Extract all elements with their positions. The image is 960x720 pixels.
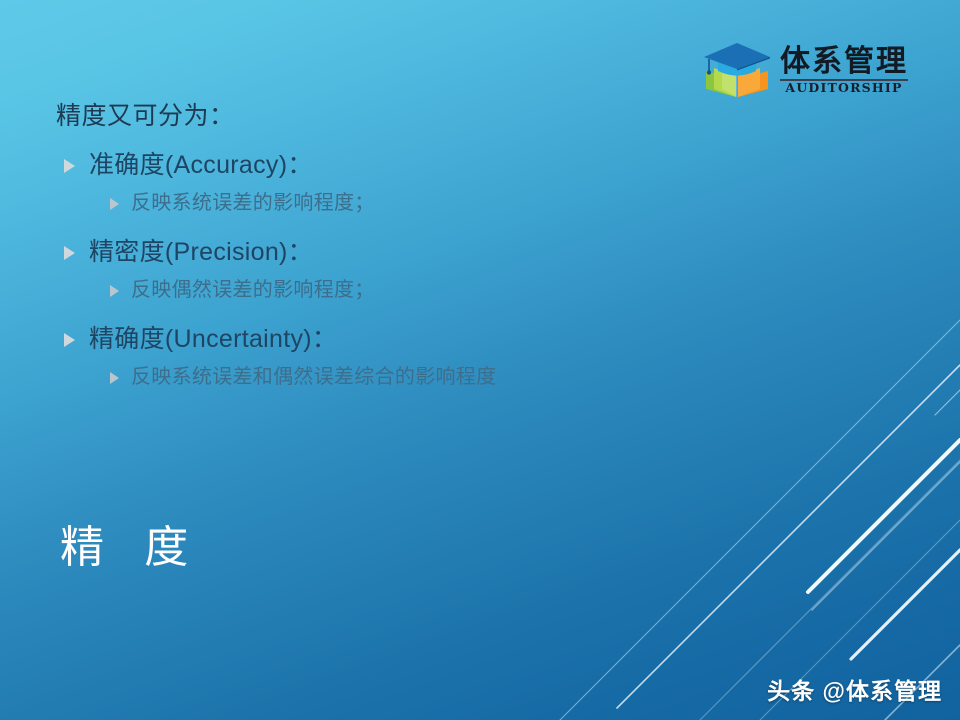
lead-statement: 精度又可分为： (56, 100, 876, 134)
watermark: 头条 @体系管理 (767, 672, 942, 706)
bullet-level2-label: 反映偶然误差的影响程度； (131, 276, 375, 304)
triangle-bullet-icon (64, 159, 75, 173)
triangle-bullet-icon (64, 246, 75, 260)
bullet-level1-label: 精确度(Uncertainty)： (89, 322, 337, 357)
triangle-bullet-icon (110, 198, 119, 210)
triangle-bullet-icon (110, 372, 119, 384)
slide-canvas: 体系管理 AUDITORSHIP 精度又可分为： 准确度(Accuracy)： … (0, 0, 960, 720)
bullet-level2-label: 反映系统误差和偶然误差综合的影响程度 (131, 363, 496, 391)
graduation-cap-book-icon (700, 37, 774, 101)
bullet-level1-label: 精密度(Precision)： (89, 235, 313, 270)
bullet-level1-accuracy: 准确度(Accuracy)： (56, 148, 876, 183)
bullet-level2-precision-detail: 反映偶然误差的影响程度； (56, 276, 876, 304)
logo-wordmark: 体系管理 AUDITORSHIP (780, 44, 908, 95)
bullet-level2-label: 反映系统误差的影响程度； (131, 189, 375, 217)
slide-title: 精 度 (60, 522, 202, 575)
bullet-level1-uncertainty: 精确度(Uncertainty)： (56, 322, 876, 357)
bullet-level2-uncertainty-detail: 反映系统误差和偶然误差综合的影响程度 (56, 363, 876, 391)
bullet-level2-accuracy-detail: 反映系统误差的影响程度； (56, 189, 876, 217)
triangle-bullet-icon (110, 285, 119, 297)
bullet-level1-label: 准确度(Accuracy)： (89, 148, 313, 183)
triangle-bullet-icon (64, 333, 75, 347)
slide-body: 精度又可分为： 准确度(Accuracy)： 反映系统误差的影响程度； 精密度(… (56, 100, 876, 409)
logo-chinese-name: 体系管理 (780, 46, 908, 78)
logo-english-name: AUDITORSHIP (785, 82, 902, 95)
bullet-level1-precision: 精密度(Precision)： (56, 235, 876, 270)
brand-logo: 体系管理 AUDITORSHIP (700, 33, 912, 105)
